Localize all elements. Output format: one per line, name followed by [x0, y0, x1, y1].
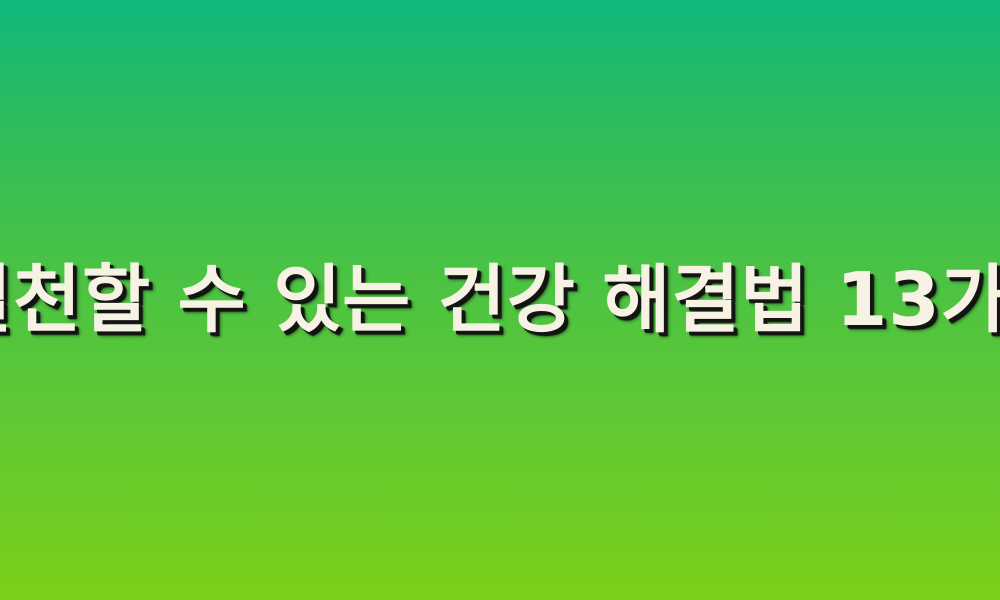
banner-headline: 일 실천할 수 있는 건강 해결법 13가지로 — [0, 263, 1000, 337]
banner-canvas: 일 실천할 수 있는 건강 해결법 13가지로 — [0, 0, 1000, 600]
headline-row: 일 실천할 수 있는 건강 해결법 13가지로 — [0, 0, 1000, 600]
gradient-banding-overlay — [0, 0, 1000, 600]
